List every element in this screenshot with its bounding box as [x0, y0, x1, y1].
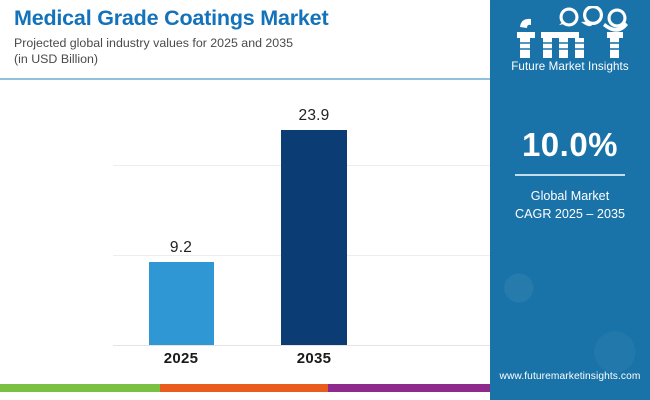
axis-baseline — [113, 345, 490, 346]
cagr-divider — [515, 174, 625, 176]
chart-subtitle: Projected global industry values for 202… — [14, 35, 484, 68]
bar-2025 — [149, 262, 214, 345]
bar-chart-plot: 9.2 2025 23.9 2035 — [0, 84, 490, 384]
chart-header: Medical Grade Coatings Market Projected … — [14, 6, 484, 68]
cagr-callout: 10.0% Global Market CAGR 2025 – 2035 — [490, 128, 650, 224]
brand-panel: Future Market Insights 10.0% Global Mark… — [490, 0, 650, 400]
infographic-root: Medical Grade Coatings Market Projected … — [0, 0, 650, 400]
strip-segment-orange — [160, 384, 328, 392]
bar-category-2035: 2035 — [254, 350, 374, 367]
fmi-logo-text: Future Market Insights — [490, 60, 650, 73]
cagr-caption: Global Market CAGR 2025 – 2035 — [490, 187, 650, 225]
strip-segment-purple — [328, 384, 490, 392]
bar-category-2025: 2025 — [121, 350, 241, 367]
bottom-color-strip — [0, 384, 490, 392]
fmi-logo: Future Market Insights — [490, 6, 650, 73]
cagr-value: 10.0% — [490, 128, 650, 161]
page-title: Medical Grade Coatings Market — [14, 6, 484, 31]
website-url: www.futuremarketinsights.com — [490, 371, 650, 382]
bar-value-2025: 9.2 — [121, 239, 241, 257]
fmi-logo-icon — [507, 6, 633, 58]
chart-panel: Medical Grade Coatings Market Projected … — [0, 0, 490, 392]
header-divider — [0, 78, 490, 80]
bar-value-2035: 23.9 — [254, 107, 374, 125]
strip-segment-green — [0, 384, 160, 392]
bar-2035 — [281, 130, 347, 345]
